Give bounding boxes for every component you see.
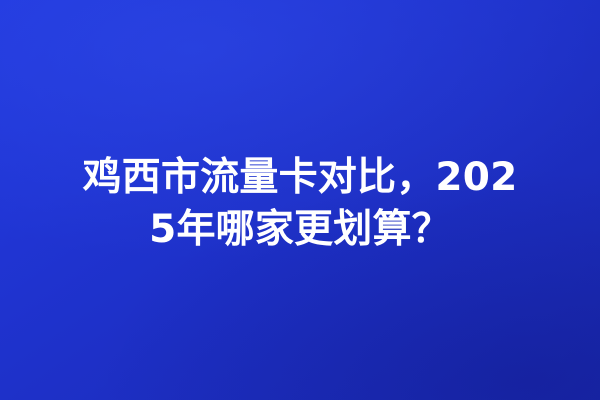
headline-block: 鸡西市流量卡对比，2025年哪家更划算？ — [76, 152, 524, 256]
banner-background: 鸡西市流量卡对比，2025年哪家更划算？ — [0, 0, 600, 400]
page-title: 鸡西市流量卡对比，2025年哪家更划算？ — [76, 152, 524, 256]
